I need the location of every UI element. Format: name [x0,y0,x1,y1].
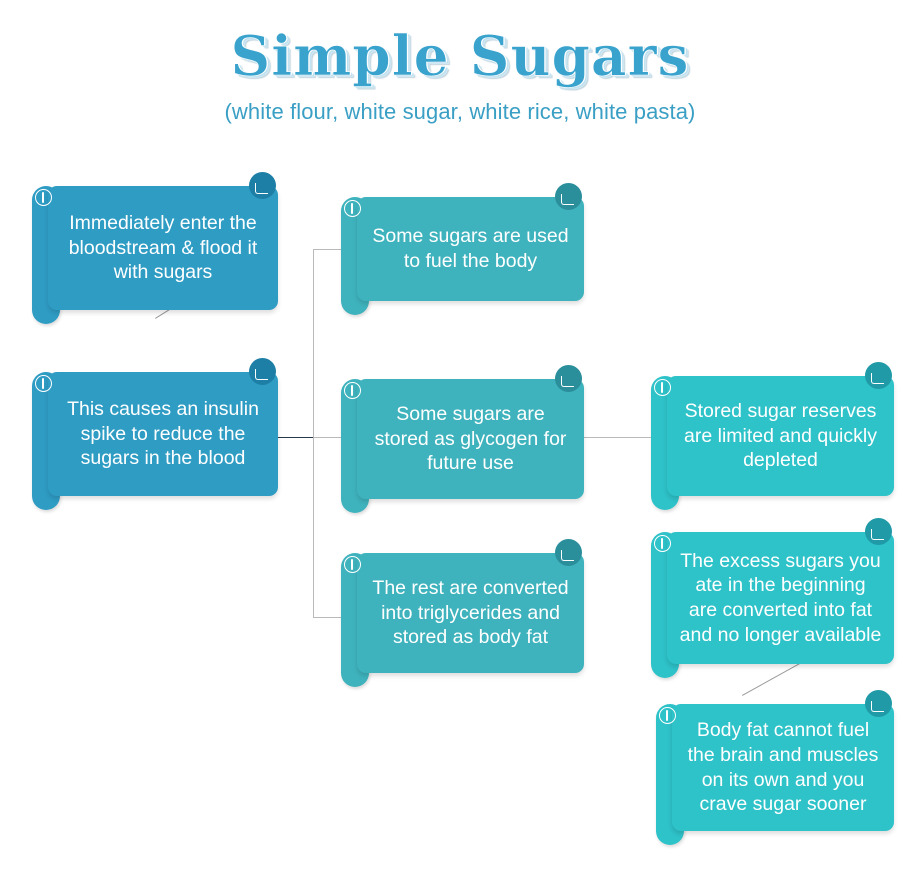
node-label: Body fat cannot fuel the brain and muscl… [672,718,894,816]
connector-n2-stub [278,437,314,438]
node-immediately-enter-bloodstream[interactable]: Immediately enter the bloodstream & floo… [26,172,278,324]
scroll-curl-icon [249,172,276,199]
scroll-curl-icon [865,362,892,389]
title-block: Simple Sugars (white flour, white sugar,… [0,26,920,125]
scroll-roll-curl-icon [344,200,361,217]
node-panel: Some sugars are stored as glycogen for f… [357,379,584,499]
scroll-curl-icon [555,183,582,210]
scroll-curl-icon [555,539,582,566]
node-label: Some sugars are stored as glycogen for f… [357,402,584,476]
page-subtitle: (white flour, white sugar, white rice, w… [0,99,920,125]
node-excess-sugars-converted-fat[interactable]: The excess sugars you ate in the beginni… [645,518,894,678]
scroll-curl-mark-icon [561,550,574,561]
scroll-curl-mark-icon [871,701,884,712]
node-panel: Stored sugar reserves are limited and qu… [667,376,894,496]
node-panel: The excess sugars you ate in the beginni… [667,532,894,664]
page-title: Simple Sugars [0,26,920,85]
node-insulin-spike[interactable]: This causes an insulin spike to reduce t… [26,358,278,510]
scroll-curl-icon [555,365,582,392]
diagram-canvas: Simple Sugars (white flour, white sugar,… [0,0,920,875]
scroll-curl-mark-icon [561,376,574,387]
scroll-roll-curl-icon [654,379,671,396]
scroll-curl-icon [865,690,892,717]
scroll-curl-mark-icon [871,529,884,540]
connector-trunk-vertical [313,249,314,617]
node-panel: Immediately enter the bloodstream & floo… [48,186,278,310]
node-label: The excess sugars you ate in the beginni… [667,549,894,647]
node-body-fat-cannot-fuel[interactable]: Body fat cannot fuel the brain and muscl… [650,690,894,845]
node-panel: The rest are converted into triglyceride… [357,553,584,673]
node-label: This causes an insulin spike to reduce t… [48,397,278,471]
node-sugars-stored-glycogen[interactable]: Some sugars are stored as glycogen for f… [335,365,584,513]
scroll-roll-curl-icon [35,375,52,392]
node-sugars-fuel-body[interactable]: Some sugars are used to fuel the body [335,183,584,315]
node-label: The rest are converted into triglyceride… [357,576,584,650]
node-label: Some sugars are used to fuel the body [357,224,584,273]
scroll-curl-mark-icon [871,373,884,384]
scroll-curl-icon [249,358,276,385]
node-panel: Body fat cannot fuel the brain and muscl… [672,704,894,831]
scroll-roll-curl-icon [344,556,361,573]
node-panel: Some sugars are used to fuel the body [357,197,584,301]
scroll-curl-mark-icon [255,183,268,194]
node-stored-reserves-limited[interactable]: Stored sugar reserves are limited and qu… [645,362,894,510]
scroll-curl-mark-icon [561,194,574,205]
node-panel: This causes an insulin spike to reduce t… [48,372,278,496]
node-label: Immediately enter the bloodstream & floo… [48,211,278,285]
node-label: Stored sugar reserves are limited and qu… [667,399,894,473]
scroll-curl-mark-icon [255,369,268,380]
connector-n4-n6 [584,437,652,438]
scroll-roll-curl-icon [35,189,52,206]
scroll-curl-icon [865,518,892,545]
node-rest-converted-triglycerides[interactable]: The rest are converted into triglyceride… [335,539,584,687]
scroll-roll-curl-icon [344,382,361,399]
